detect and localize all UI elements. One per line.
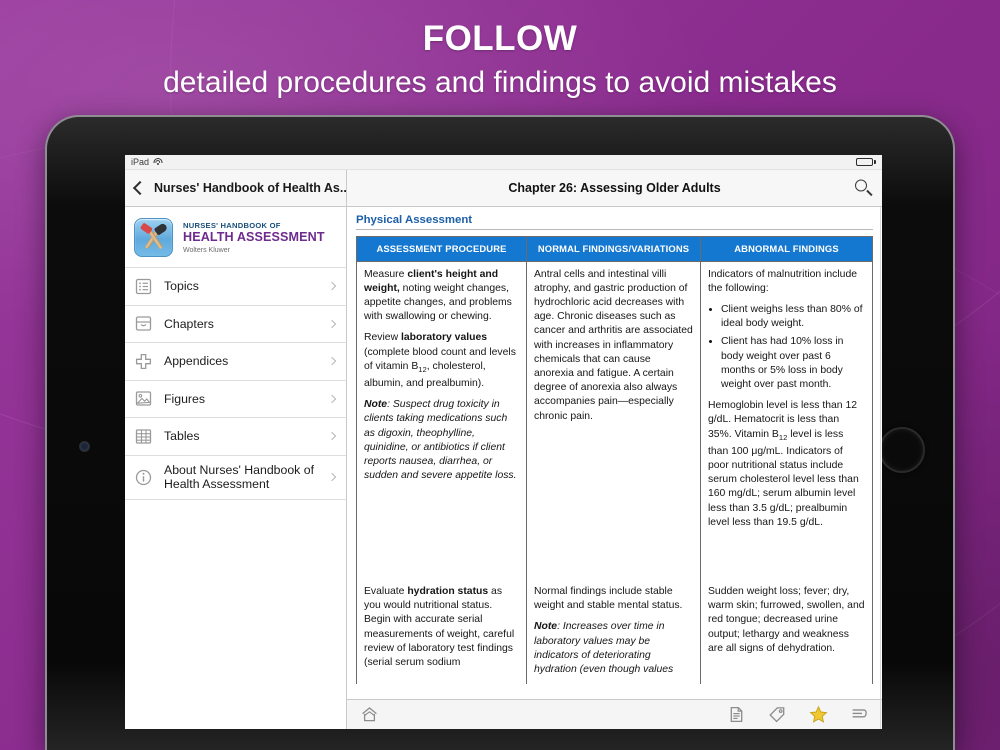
chevron-left-icon [133,181,147,195]
chevron-right-icon [328,395,336,403]
search-icon[interactable] [855,180,872,197]
sidebar-item-chapters[interactable]: Chapters [125,306,346,344]
sidebar-item-appendices[interactable]: Appendices [125,343,346,381]
wifi-icon [153,158,162,166]
list-lines-icon[interactable] [850,705,869,724]
text-run: Evaluate [364,586,407,597]
column-header-normal: NORMAL FINDINGS/VARIATIONS [527,237,701,262]
text-run-italic: : Suspect drug toxicity in clients takin… [364,399,517,481]
chevron-right-icon [328,320,336,328]
column-header-abnormal: ABNORMAL FINDINGS [701,237,873,262]
cell-procedure: Evaluate hydration status as you would n… [357,579,527,684]
paragraph-intro: Indicators of malnutrition include the f… [708,268,865,296]
back-navigation-button[interactable]: Nurses' Handbook of Health As... [125,170,347,206]
promo-headline: FOLLOW detailed procedures and findings … [0,18,1000,103]
chevron-right-icon [328,357,336,365]
assessment-table: ASSESSMENT PROCEDURE NORMAL FINDINGS/VAR… [356,236,873,684]
navbar-title-area: Chapter 26: Assessing Older Adults [347,170,882,206]
home-icon[interactable] [360,705,379,724]
text-run: Review [364,332,401,343]
sidebar-item-label: Chapters [164,317,214,331]
paragraph-note: Note: Increases over time in laboratory … [534,620,693,677]
paragraph-measure: Measure client's height and weight, noti… [364,268,519,325]
paragraph-normal: Antral cells and intestinal villi atroph… [534,268,693,424]
paragraph-normal: Normal findings include stable weight an… [534,585,693,613]
navigation-bar: Nurses' Handbook of Health As... Chapter… [125,170,882,207]
sidebar-item-label: Topics [164,279,199,293]
chevron-right-icon [328,432,336,440]
list-icon [134,277,153,296]
paragraph-review: Review laboratory values (complete blood… [364,331,519,391]
status-bar: iPad [125,155,882,170]
text-run-bold: hydration status [407,586,488,597]
cell-abnormal-findings: Sudden weight loss; fever; dry, warm ski… [701,579,873,684]
text-run: Measure [364,269,407,280]
promo-subtitle: detailed procedures and findings to avoi… [0,63,1000,103]
app-brand-header[interactable]: NURSES' HANDBOOK OF HEALTH ASSESSMENT Wo… [125,207,346,268]
battery-full-icon [856,158,876,166]
tag-icon[interactable] [768,705,787,724]
bottom-toolbar [347,699,882,729]
list-item: Client weighs less than 80% of ideal bod… [721,303,865,331]
sidebar-item-topics[interactable]: Topics [125,268,346,306]
section-title: Physical Assessment [356,214,873,230]
screen-body: NURSES' HANDBOOK OF HEALTH ASSESSMENT Wo… [125,207,882,729]
cell-abnormal-findings: Indicators of malnutrition include the f… [701,261,873,579]
paragraph-note: Note: Suspect drug toxicity in clients t… [364,398,519,483]
content-edge-rule [880,207,881,729]
text-run: as you would nutritional status. Begin w… [364,586,514,668]
note-label: Note [364,399,387,410]
sidebar-empty-space [125,500,346,730]
back-title-label: Nurses' Handbook of Health As... [154,181,346,195]
sidebar-item-label: Tables [164,429,200,443]
content-scroll-area[interactable]: Physical Assessment ASSESSMENT PROCEDURE… [347,207,882,699]
sidebar-item-figures[interactable]: Figures [125,381,346,419]
text-run-bold: laboratory values [401,332,487,343]
table-icon [134,427,153,446]
bullet-list: Client weighs less than 80% of ideal bod… [721,303,865,392]
sidebar-item-about[interactable]: About Nurses' Handbook of Health Assessm… [125,456,346,500]
paragraph-abnormal: Sudden weight loss; fever; dry, warm ski… [708,585,865,656]
file-box-icon [134,314,153,333]
column-header-procedure: ASSESSMENT PROCEDURE [357,237,527,262]
picture-icon [134,389,153,408]
brand-publisher: Wolters Kluwer [183,247,325,254]
paragraph-hydration: Evaluate hydration status as you would n… [364,585,519,670]
carrier-label: iPad [131,157,149,167]
star-icon[interactable] [809,705,828,724]
home-button[interactable] [879,427,925,473]
table-row: Evaluate hydration status as you would n… [357,579,873,684]
list-item: Client has had 10% loss in body weight o… [721,335,865,392]
cell-procedure: Measure client's height and weight, noti… [357,261,527,579]
crossed-tools-app-icon [134,218,173,257]
cell-normal-findings: Antral cells and intestinal villi atroph… [527,261,701,579]
paragraph-lab-values: Hemoglobin level is less than 12 g/dL. H… [708,399,865,530]
note-label: Note [534,621,557,632]
text-run: level is less than 100 μg/mL. Indicators… [708,429,859,528]
table-header-row: ASSESSMENT PROCEDURE NORMAL FINDINGS/VAR… [357,237,873,262]
promo-kicker: FOLLOW [0,18,1000,60]
promo-stage: FOLLOW detailed procedures and findings … [0,0,1000,750]
content-pane: Physical Assessment ASSESSMENT PROCEDURE… [347,207,882,729]
page-title: Chapter 26: Assessing Older Adults [508,181,720,195]
tablet-device-frame: iPad Nurses' Handbook of Health As... Ch… [45,115,955,750]
sidebar-item-label: Figures [164,392,205,406]
sidebar-item-label: About Nurses' Handbook of Health Assessm… [164,463,337,491]
brand-line-1: NURSES' HANDBOOK OF [183,221,325,230]
plus-cross-icon [134,352,153,371]
front-camera-icon [80,442,89,451]
tablet-screen: iPad Nurses' Handbook of Health As... Ch… [125,155,882,729]
sidebar: NURSES' HANDBOOK OF HEALTH ASSESSMENT Wo… [125,207,347,729]
document-icon[interactable] [727,705,746,724]
cell-normal-findings: Normal findings include stable weight an… [527,579,701,684]
table-row: Measure client's height and weight, noti… [357,261,873,579]
sidebar-item-tables[interactable]: Tables [125,418,346,456]
sidebar-item-label: Appendices [164,354,228,368]
chevron-right-icon [328,282,336,290]
info-icon [134,468,153,487]
brand-line-2: HEALTH ASSESSMENT [183,230,325,245]
subscript-12: 12 [418,365,426,374]
